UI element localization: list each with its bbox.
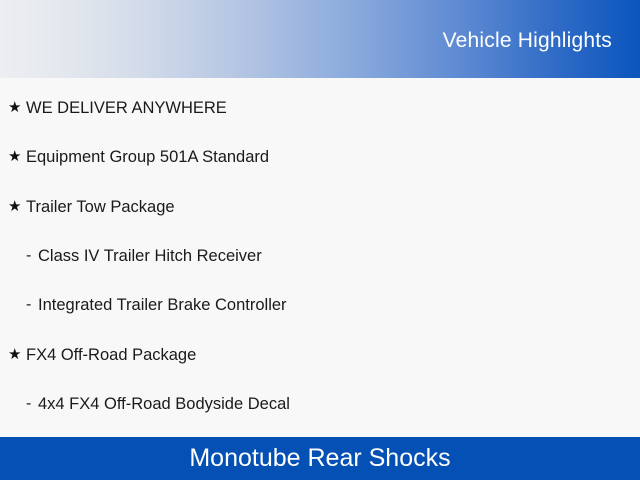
sub-list-item: - 4x4 FX4 Off-Road Bodyside Decal [0, 392, 640, 416]
list-item-label: Equipment Group 501A Standard [26, 145, 269, 169]
sub-list-item-label: 4x4 FX4 Off-Road Bodyside Decal [38, 392, 290, 416]
list-item-label: Trailer Tow Package [26, 195, 175, 219]
highlights-list: ★ WE DELIVER ANYWHERE ★ Equipment Group … [0, 78, 640, 437]
dash-bullet-icon: - [26, 392, 38, 416]
list-item: ★ Trailer Tow Package [0, 195, 640, 219]
list-item: ★ Equipment Group 501A Standard [0, 145, 640, 169]
footer-banner: Monotube Rear Shocks [0, 437, 640, 480]
star-bullet-icon: ★ [8, 343, 26, 367]
dash-bullet-icon: - [26, 244, 38, 268]
star-bullet-icon: ★ [8, 195, 26, 219]
star-bullet-icon: ★ [8, 96, 26, 120]
footer-caption: Monotube Rear Shocks [189, 444, 450, 473]
sub-list-item: - Class IV Trailer Hitch Receiver [0, 244, 640, 268]
dash-bullet-icon: - [26, 293, 38, 317]
list-item: ★ FX4 Off-Road Package [0, 343, 640, 367]
list-item-label: WE DELIVER ANYWHERE [26, 96, 227, 120]
header-banner: Vehicle Highlights [0, 0, 640, 78]
sub-list-item-label: Integrated Trailer Brake Controller [38, 293, 287, 317]
list-item: ★ WE DELIVER ANYWHERE [0, 96, 640, 120]
list-item-label: FX4 Off-Road Package [26, 343, 196, 367]
vehicle-highlights-slide: Vehicle Highlights ★ WE DELIVER ANYWHERE… [0, 0, 640, 480]
star-bullet-icon: ★ [8, 145, 26, 169]
sub-list-item-label: Class IV Trailer Hitch Receiver [38, 244, 262, 268]
sub-list-item: - Integrated Trailer Brake Controller [0, 293, 640, 317]
page-title: Vehicle Highlights [443, 29, 612, 53]
